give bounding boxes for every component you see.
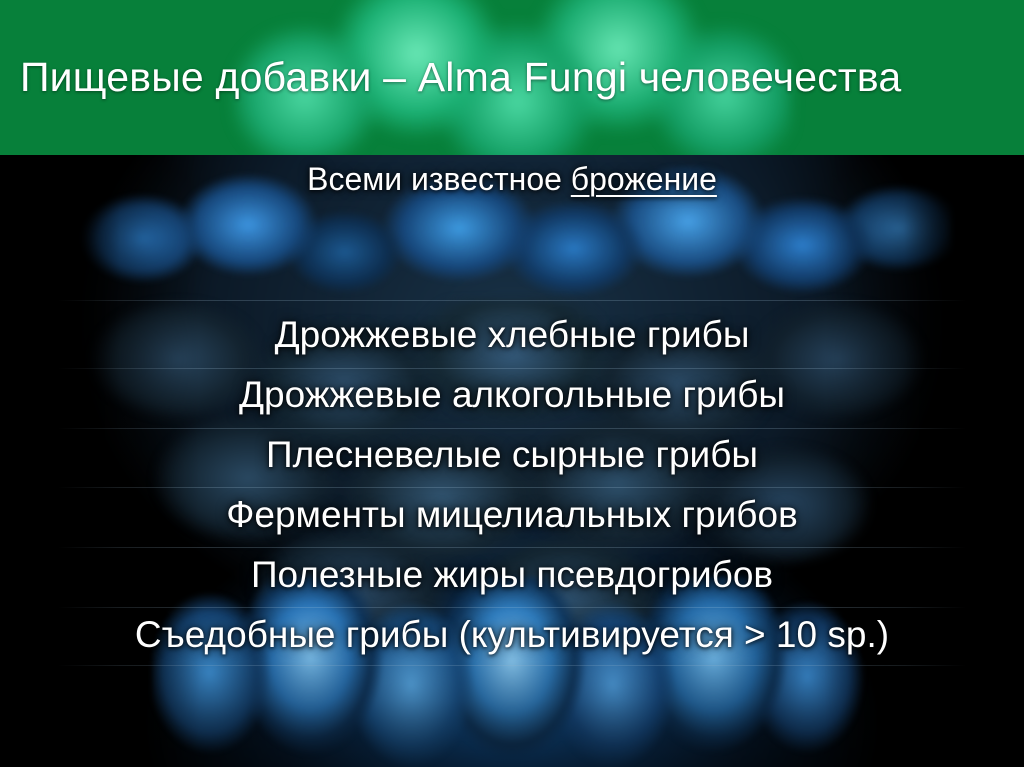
- slide-body-list: Дрожжевые хлебные грибы Дрожжевые алкого…: [0, 305, 1024, 665]
- slide-title: Пищевые добавки – Alma Fungi человечеств…: [20, 0, 901, 155]
- list-item: Дрожжевые алкогольные грибы: [0, 365, 1024, 425]
- list-item: Плесневелые сырные грибы: [0, 425, 1024, 485]
- list-item: Полезные жиры псевдогрибов: [0, 545, 1024, 605]
- subtitle-prefix: Всеми известное: [307, 161, 571, 197]
- subtitle-underlined-word: брожение: [571, 161, 717, 197]
- presentation-slide: Пищевые добавки – Alma Fungi человечеств…: [0, 0, 1024, 767]
- slide-header-band: Пищевые добавки – Alma Fungi человечеств…: [0, 0, 1024, 155]
- list-item: Дрожжевые хлебные грибы: [0, 305, 1024, 365]
- list-item: Ферменты мицелиальных грибов: [0, 485, 1024, 545]
- slide-subtitle: Всеми известное брожение: [0, 161, 1024, 198]
- list-item: Съедобные грибы (культивируется > 10 sp.…: [0, 605, 1024, 665]
